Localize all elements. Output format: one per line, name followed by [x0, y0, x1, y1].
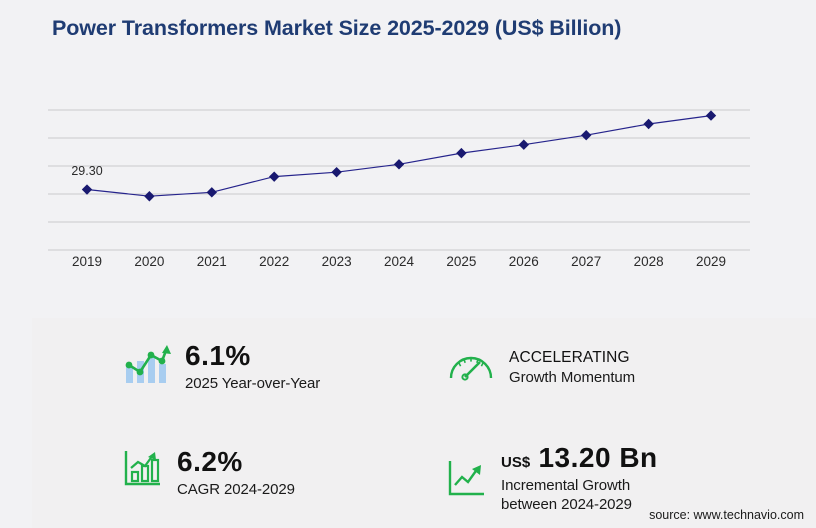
x-tick-2021: 2021 — [197, 254, 227, 269]
growth-bars-icon — [123, 342, 171, 391]
stat-value-prefix: US$ — [501, 454, 530, 471]
stat-value: ACCELERATING — [509, 348, 635, 368]
chart-gridlines — [48, 110, 750, 250]
x-tick-2028: 2028 — [634, 254, 664, 269]
stat-year-over-year: 6.1% 2025 Year-over-Year — [123, 342, 320, 393]
speedometer-icon — [447, 348, 495, 387]
x-tick-2029: 2029 — [696, 254, 726, 269]
cagr-chart-icon — [123, 448, 163, 493]
stat-caption-2: between 2024-2029 — [501, 495, 658, 514]
x-axis-tick-labels: 2019202020212022202320242025202620272028… — [0, 254, 816, 276]
data-point — [207, 187, 217, 197]
x-tick-2025: 2025 — [446, 254, 476, 269]
stat-value: 6.2% — [177, 448, 295, 477]
stat-value: 6.1% — [185, 342, 320, 371]
data-point — [82, 184, 92, 194]
stat-incremental-growth: US$ 13.20 Bn Incremental Growth between … — [447, 444, 658, 514]
stat-value: US$ 13.20 Bn — [501, 444, 658, 473]
x-tick-2024: 2024 — [384, 254, 414, 269]
page-title: Power Transformers Market Size 2025-2029… — [52, 16, 621, 41]
stat-cagr: 6.2% CAGR 2024-2029 — [123, 448, 295, 499]
x-tick-2019: 2019 — [72, 254, 102, 269]
line-chart: 29.30 — [0, 86, 816, 276]
series-line — [87, 116, 711, 197]
data-point — [331, 167, 341, 177]
data-point — [269, 171, 279, 181]
x-tick-2022: 2022 — [259, 254, 289, 269]
source-text: source: www.technavio.com — [649, 508, 804, 522]
data-point-label: 29.30 — [71, 164, 102, 178]
data-point — [643, 119, 653, 129]
stat-caption: CAGR 2024-2029 — [177, 480, 295, 499]
data-point — [706, 110, 716, 120]
x-tick-2020: 2020 — [134, 254, 164, 269]
trend-arrow-icon — [447, 458, 487, 503]
x-tick-2027: 2027 — [571, 254, 601, 269]
stat-caption: 2025 Year-over-Year — [185, 374, 320, 393]
chart-svg — [0, 86, 816, 276]
stat-caption: Incremental Growth — [501, 476, 658, 495]
stat-caption: Growth Momentum — [509, 368, 635, 388]
x-tick-2023: 2023 — [322, 254, 352, 269]
data-point — [581, 130, 591, 140]
data-point — [519, 140, 529, 150]
x-tick-2026: 2026 — [509, 254, 539, 269]
stat-growth-momentum: ACCELERATING Growth Momentum — [447, 348, 635, 388]
data-point — [456, 148, 466, 158]
series-markers — [82, 110, 716, 201]
data-point — [394, 159, 404, 169]
data-point — [144, 191, 154, 201]
stat-value-number: 13.20 Bn — [538, 442, 657, 473]
